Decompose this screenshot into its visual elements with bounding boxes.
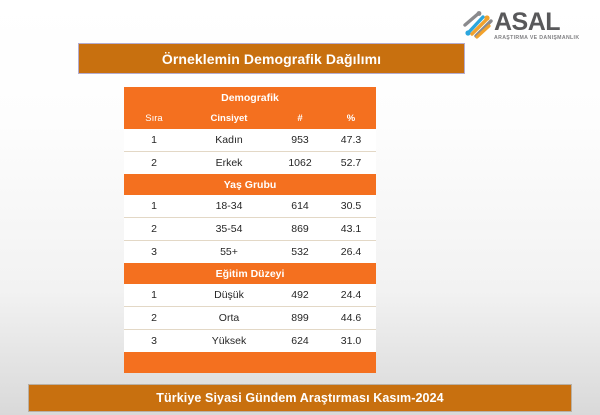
- demographics-table: DemografikSıraCinsiyet#%1Kadın95347.32Er…: [124, 87, 376, 373]
- cell-count: 532: [274, 241, 326, 264]
- logo-subtitle: ARAŞTIRMA VE DANIŞMANLIK: [494, 36, 579, 41]
- table-footer-bar-row: [124, 352, 376, 373]
- cell-category: Kadın: [184, 129, 274, 152]
- table-section-header-cell: Yaş Grubu: [124, 174, 376, 195]
- cell-category: Erkek: [184, 152, 274, 175]
- cell-percent: 31.0: [326, 330, 376, 353]
- cell-count: 614: [274, 195, 326, 218]
- page-title: Örneklemin Demografik Dağılımı: [162, 51, 381, 67]
- cell-count: 899: [274, 307, 326, 330]
- cell-sira: 3: [124, 241, 184, 264]
- column-header-category: Cinsiyet: [184, 108, 274, 129]
- cell-category: Düşük: [184, 284, 274, 307]
- table-body: DemografikSıraCinsiyet#%1Kadın95347.32Er…: [124, 87, 376, 373]
- table-column-header-row: SıraCinsiyet#%: [124, 108, 376, 129]
- table-row: 2Orta89944.6: [124, 307, 376, 330]
- cell-count: 624: [274, 330, 326, 353]
- cell-count: 953: [274, 129, 326, 152]
- column-header-percent: %: [326, 108, 376, 129]
- cell-sira: 1: [124, 129, 184, 152]
- cell-count: 492: [274, 284, 326, 307]
- cell-category: Yüksek: [184, 330, 274, 353]
- cell-sira: 1: [124, 195, 184, 218]
- table-row: 1Düşük49224.4: [124, 284, 376, 307]
- cell-percent: 24.4: [326, 284, 376, 307]
- column-header-sira: Sıra: [124, 108, 184, 129]
- table-row: 2Erkek106252.7: [124, 152, 376, 175]
- asal-logo-mark-icon: [463, 11, 493, 39]
- cell-count: 869: [274, 218, 326, 241]
- table-main-header-cell: Demografik: [124, 87, 376, 108]
- slide-title-banner: Örneklemin Demografik Dağılımı: [78, 43, 465, 74]
- cell-percent: 43.1: [326, 218, 376, 241]
- cell-sira: 2: [124, 152, 184, 175]
- cell-sira: 1: [124, 284, 184, 307]
- table-section-header-row: Eğitim Düzeyi: [124, 263, 376, 284]
- cell-percent: 47.3: [326, 129, 376, 152]
- footer-text: Türkiye Siyasi Gündem Araştırması Kasım-…: [156, 391, 443, 405]
- cell-percent: 26.4: [326, 241, 376, 264]
- table-row: 1Kadın95347.3: [124, 129, 376, 152]
- cell-category: Orta: [184, 307, 274, 330]
- table-row: 235-5486943.1: [124, 218, 376, 241]
- cell-sira: 2: [124, 218, 184, 241]
- cell-category: 55+: [184, 241, 274, 264]
- cell-percent: 44.6: [326, 307, 376, 330]
- cell-category: 35-54: [184, 218, 274, 241]
- table-row: 3Yüksek62431.0: [124, 330, 376, 353]
- cell-count: 1062: [274, 152, 326, 175]
- cell-sira: 3: [124, 330, 184, 353]
- logo-wordmark: ASAL: [494, 10, 579, 35]
- table-row: 118-3461430.5: [124, 195, 376, 218]
- cell-percent: 52.7: [326, 152, 376, 175]
- cell-category: 18-34: [184, 195, 274, 218]
- table-section-header-cell: Eğitim Düzeyi: [124, 263, 376, 284]
- cell-percent: 30.5: [326, 195, 376, 218]
- footer-banner: Türkiye Siyasi Gündem Araştırması Kasım-…: [28, 384, 572, 412]
- table-main-header-row: Demografik: [124, 87, 376, 108]
- asal-logo: ASAL ARAŞTIRMA VE DANIŞMANLIK: [463, 10, 588, 46]
- table-row: 355+53226.4: [124, 241, 376, 264]
- table-footer-bar-cell: [124, 352, 376, 373]
- table-section-header-row: Yaş Grubu: [124, 174, 376, 195]
- column-header-count: #: [274, 108, 326, 129]
- cell-sira: 2: [124, 307, 184, 330]
